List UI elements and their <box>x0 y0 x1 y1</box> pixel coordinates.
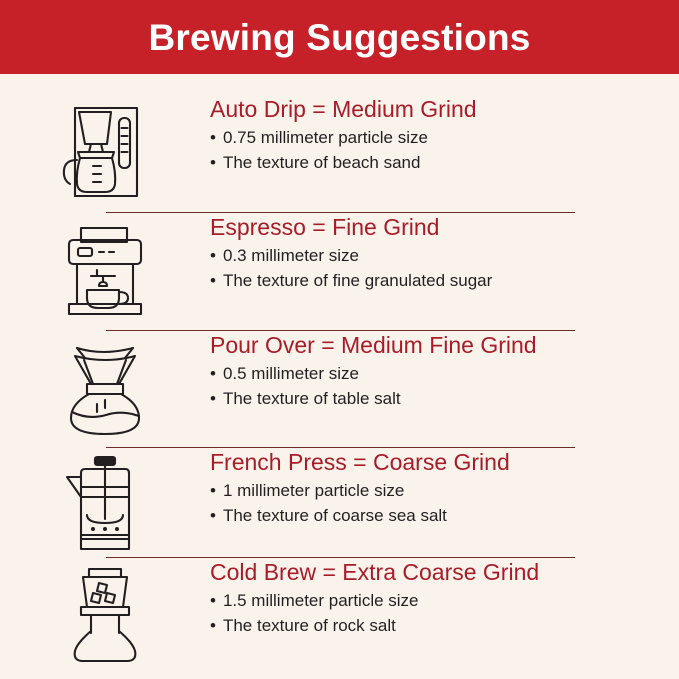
cold-brew-icon <box>0 557 210 665</box>
row-text: French Press = Coarse Grind • 1 millimet… <box>210 447 679 528</box>
row-title: Auto Drip = Medium Grind <box>210 96 665 123</box>
french-press-icon <box>0 447 210 555</box>
auto-drip-coffee-maker-icon <box>0 94 210 202</box>
bullet-text: 0.3 millimeter size <box>223 244 359 269</box>
row-text: Espresso = Fine Grind • 0.3 millimeter s… <box>210 212 679 293</box>
row-text: Pour Over = Medium Fine Grind • 0.5 mill… <box>210 330 679 411</box>
bullet-text: The texture of fine granulated sugar <box>223 269 492 294</box>
row-text: Auto Drip = Medium Grind • 0.75 millimet… <box>210 94 679 175</box>
bullet-marker-icon: • <box>210 504 216 529</box>
bullet-text: The texture of rock salt <box>223 614 396 639</box>
list-item: • The texture of rock salt <box>210 614 665 639</box>
bullet-text: 0.5 millimeter size <box>223 362 359 387</box>
list-item: French Press = Coarse Grind • 1 millimet… <box>0 447 679 557</box>
row-text: Cold Brew = Extra Coarse Grind • 1.5 mil… <box>210 557 679 638</box>
bullet-marker-icon: • <box>210 479 216 504</box>
bullet-marker-icon: • <box>210 614 216 639</box>
suggestion-rows: Auto Drip = Medium Grind • 0.75 millimet… <box>0 74 679 679</box>
header-band: Brewing Suggestions <box>0 0 679 74</box>
list-item: • The texture of table salt <box>210 387 665 412</box>
bullet-text: The texture of coarse sea salt <box>223 504 447 529</box>
bullet-marker-icon: • <box>210 244 216 269</box>
bullet-text: 0.75 millimeter particle size <box>223 126 428 151</box>
list-item: Auto Drip = Medium Grind • 0.75 millimet… <box>0 94 679 212</box>
list-item: • The texture of coarse sea salt <box>210 504 665 529</box>
espresso-machine-icon <box>0 212 210 320</box>
bullet-text: 1.5 millimeter particle size <box>223 589 419 614</box>
list-item: • 0.3 millimeter size <box>210 244 665 269</box>
bullet-list: • 1 millimeter particle size • The textu… <box>210 479 665 528</box>
row-title: Espresso = Fine Grind <box>210 214 665 241</box>
list-item: • 0.75 millimeter particle size <box>210 126 665 151</box>
bullet-list: • 1.5 millimeter particle size • The tex… <box>210 589 665 638</box>
bullet-marker-icon: • <box>210 387 216 412</box>
bullet-text: The texture of table salt <box>223 387 401 412</box>
row-title: Pour Over = Medium Fine Grind <box>210 332 665 359</box>
list-item: • The texture of fine granulated sugar <box>210 269 665 294</box>
list-item: • The texture of beach sand <box>210 151 665 176</box>
row-title: Cold Brew = Extra Coarse Grind <box>210 559 665 586</box>
bullet-marker-icon: • <box>210 589 216 614</box>
list-item: • 1 millimeter particle size <box>210 479 665 504</box>
bullet-marker-icon: • <box>210 269 216 294</box>
pour-over-chemex-icon <box>0 330 210 438</box>
page-title: Brewing Suggestions <box>148 19 530 56</box>
row-title: French Press = Coarse Grind <box>210 449 665 476</box>
list-item: • 0.5 millimeter size <box>210 362 665 387</box>
bullet-marker-icon: • <box>210 126 216 151</box>
list-item: Pour Over = Medium Fine Grind • 0.5 mill… <box>0 330 679 447</box>
bullet-list: • 0.75 millimeter particle size • The te… <box>210 126 665 175</box>
bullet-marker-icon: • <box>210 362 216 387</box>
bullet-list: • 0.5 millimeter size • The texture of t… <box>210 362 665 411</box>
list-item: Espresso = Fine Grind • 0.3 millimeter s… <box>0 212 679 330</box>
list-item: • 1.5 millimeter particle size <box>210 589 665 614</box>
bullet-text: 1 millimeter particle size <box>223 479 404 504</box>
bullet-list: • 0.3 millimeter size • The texture of f… <box>210 244 665 293</box>
list-item: Cold Brew = Extra Coarse Grind • 1.5 mil… <box>0 557 679 677</box>
bullet-text: The texture of beach sand <box>223 151 421 176</box>
brewing-suggestions-infographic: Brewing Suggestions <box>0 0 679 679</box>
bullet-marker-icon: • <box>210 151 216 176</box>
